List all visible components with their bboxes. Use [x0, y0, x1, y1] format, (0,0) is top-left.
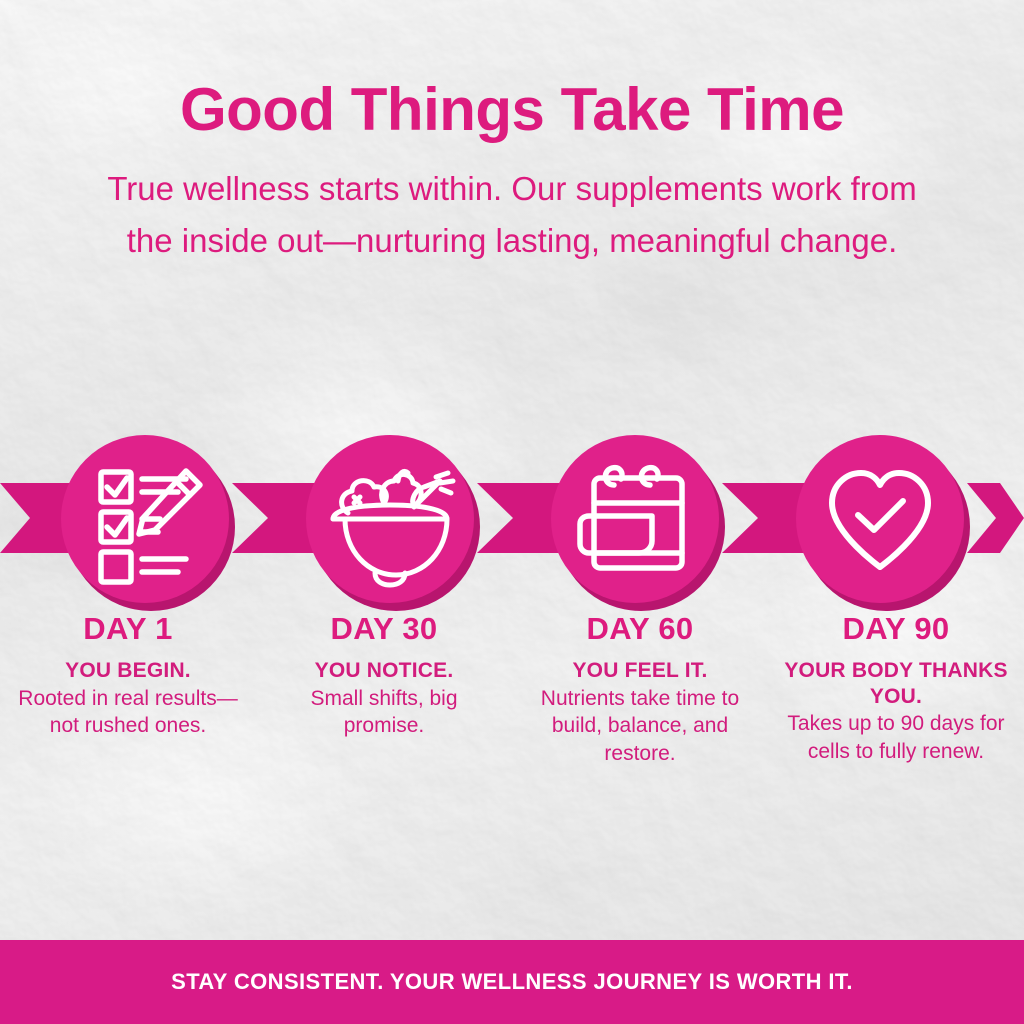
footer-banner-text: STAY CONSISTENT. YOUR WELLNESS JOURNEY I…: [171, 969, 853, 995]
step-body-text: Nutrients take time to build, balance, a…: [526, 685, 754, 768]
step-1: DAY 1 YOU BEGIN. Rooted in real results—…: [0, 612, 256, 768]
step-captions: DAY 1 YOU BEGIN. Rooted in real results—…: [0, 612, 1024, 768]
timeline-node-3: [551, 435, 725, 611]
step-headline-label: YOU NOTICE.: [270, 658, 498, 684]
node-circle: [796, 435, 964, 603]
timeline-node-2: [306, 435, 480, 611]
timeline-graphic: [0, 415, 1024, 630]
step-headline-label: YOU FEEL IT.: [526, 658, 754, 684]
step-2: DAY 30 YOU NOTICE. Small shifts, big pro…: [256, 612, 512, 768]
footer-banner: STAY CONSISTENT. YOUR WELLNESS JOURNEY I…: [0, 940, 1024, 1024]
step-body-text: Rooted in real results—not rushed ones.: [14, 685, 242, 740]
step-day-label: DAY 60: [526, 612, 754, 646]
step-day-label: DAY 1: [14, 612, 242, 646]
step-day-label: DAY 90: [782, 612, 1010, 646]
step-body-text: Small shifts, big promise.: [270, 685, 498, 740]
step-4: DAY 90 YOUR BODY THANKS YOU. Takes up to…: [768, 612, 1024, 768]
step-3: DAY 60 YOU FEEL IT. Nutrients take time …: [512, 612, 768, 768]
step-headline-label: YOU BEGIN.: [14, 658, 242, 684]
page-subtitle: True wellness starts within. Our supplem…: [0, 163, 1024, 267]
timeline-node-4: [796, 435, 970, 611]
timeline-node-1: [61, 435, 235, 611]
step-body-text: Takes up to 90 days for cells to fully r…: [782, 710, 1010, 765]
step-day-label: DAY 30: [270, 612, 498, 646]
step-headline-label: YOUR BODY THANKS YOU.: [782, 658, 1010, 709]
node-circle: [551, 435, 719, 603]
page-title: Good Things Take Time: [0, 78, 1024, 141]
header-block: Good Things Take Time True wellness star…: [0, 0, 1024, 267]
